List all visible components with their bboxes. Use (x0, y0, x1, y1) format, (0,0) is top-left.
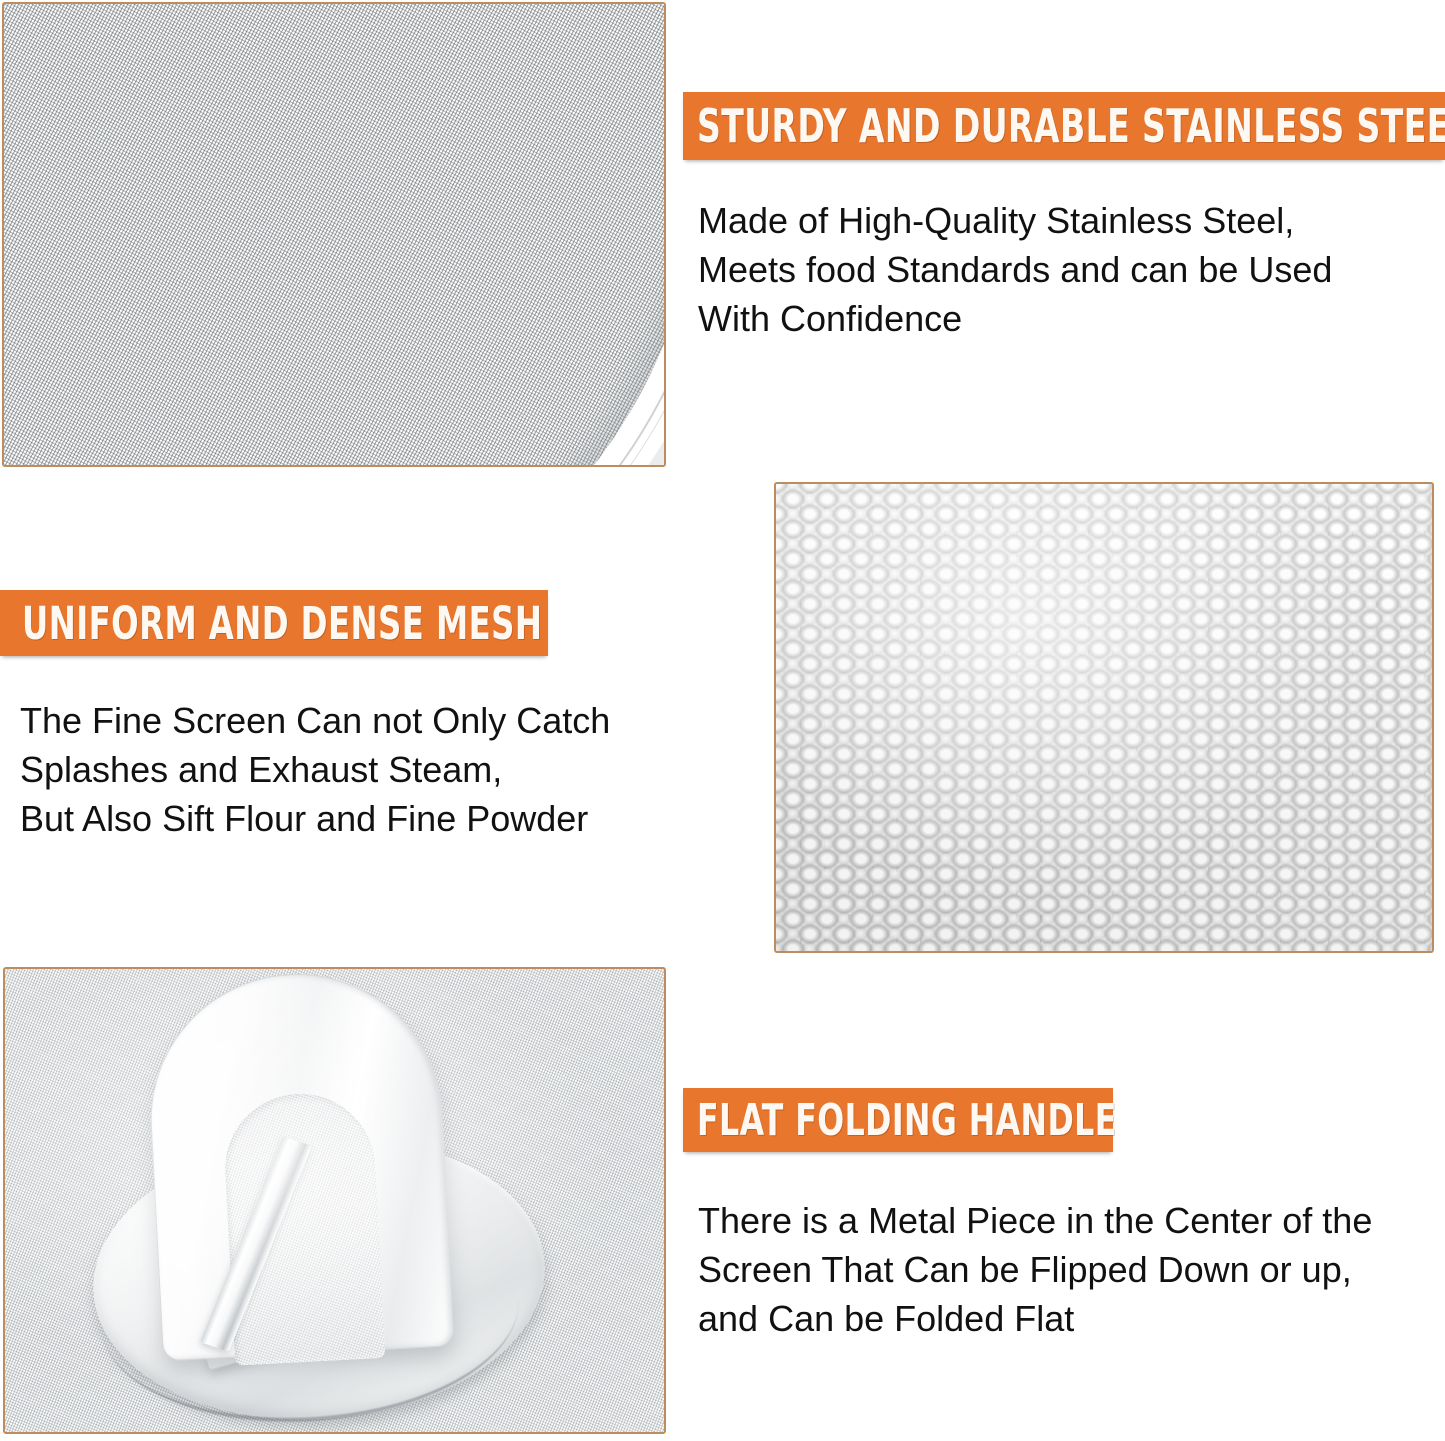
feature-image-sturdy (2, 2, 666, 467)
mesh-weave-macro-photo (776, 484, 1432, 951)
feature-body-mesh: The Fine Screen Can not Only Catch Splas… (20, 696, 700, 843)
feature-image-handle (3, 967, 666, 1434)
handle-arch (143, 967, 454, 1361)
mesh-disc (2, 2, 666, 467)
feature-heading-handle: FLAT FOLDING HANDLE (683, 1088, 1113, 1152)
handle-base-dimple (214, 1186, 450, 1356)
feature-body-handle: There is a Metal Piece in the Center of … (698, 1196, 1443, 1343)
folding-handle-photo (5, 969, 664, 1432)
handle-hinge-bar (200, 1136, 312, 1352)
feature-heading-sturdy: STURDY AND DURABLE STAINLESS STEEL (683, 92, 1445, 160)
handle-arch-opening (221, 1090, 385, 1365)
handle-fold-tab (189, 1243, 413, 1371)
handle-base-disc (84, 1122, 555, 1434)
feature-image-mesh (774, 482, 1434, 953)
feature-heading-mesh-label: UNIFORM AND DENSE MESH (22, 597, 542, 650)
feature-heading-sturdy-label: STURDY AND DURABLE STAINLESS STEEL (697, 99, 1445, 153)
handle-arch-body (143, 967, 454, 1361)
handle-base-edge (94, 1191, 526, 1434)
splatter-screen-photo (4, 4, 664, 465)
feature-body-sturdy: Made of High-Quality Stainless Steel, Me… (698, 196, 1428, 343)
feature-heading-mesh: UNIFORM AND DENSE MESH (0, 590, 548, 656)
feature-heading-handle-label: FLAT FOLDING HANDLE (697, 1095, 1117, 1146)
